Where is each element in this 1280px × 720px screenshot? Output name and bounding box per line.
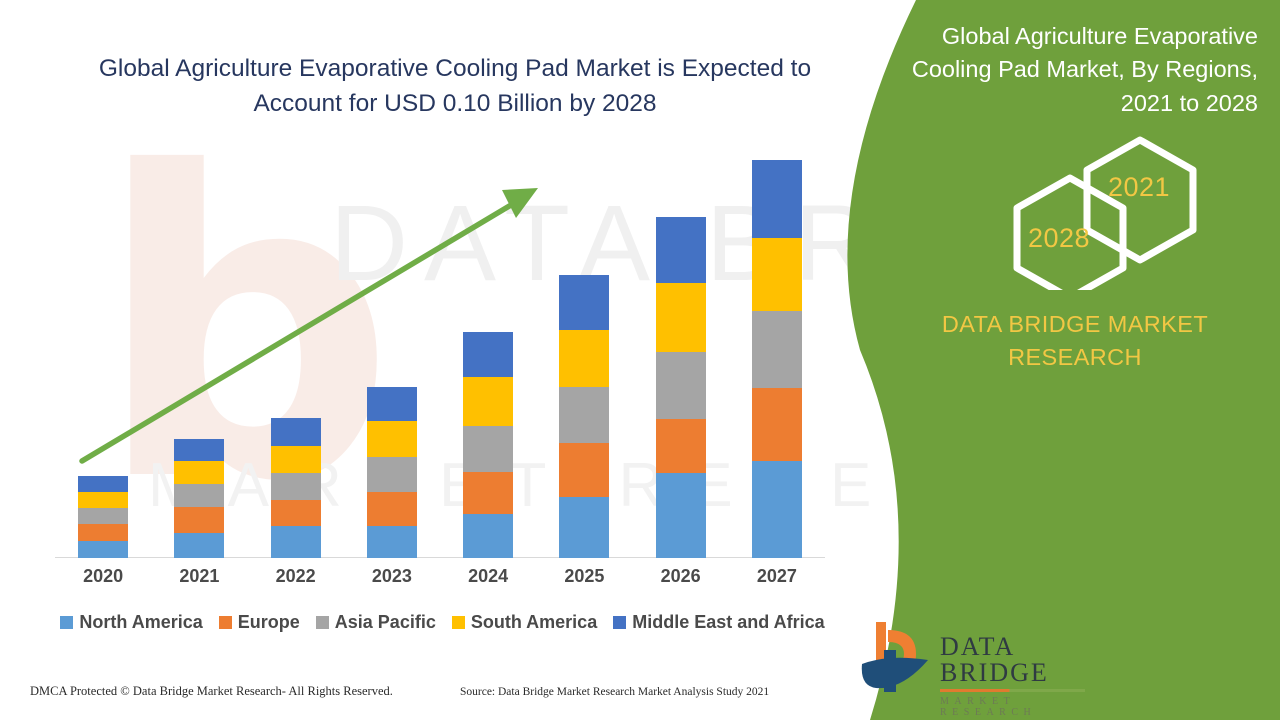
bar-segment: [463, 377, 513, 426]
bar-column: [248, 160, 344, 558]
bar-segment: [174, 484, 224, 507]
legend-label: Asia Pacific: [335, 612, 436, 633]
x-axis-tick-label: 2022: [248, 566, 344, 587]
legend-label: South America: [471, 612, 597, 633]
bar-column: [55, 160, 151, 558]
x-axis-tick-label: 2025: [536, 566, 632, 587]
legend-swatch: [60, 616, 73, 629]
footer-copyright: DMCA Protected © Data Bridge Market Rese…: [30, 684, 393, 699]
legend-label: North America: [79, 612, 202, 633]
bar-segment: [752, 238, 802, 311]
bar-segment: [367, 526, 417, 558]
logo-divider: [940, 689, 1085, 692]
bar-stack: [271, 418, 321, 558]
logo-wordmark: DATA BRIDGE MARKET RESEARCH: [940, 634, 1108, 718]
bar-segment: [463, 332, 513, 377]
logo-subtitle: MARKET RESEARCH: [940, 696, 1108, 718]
bar-stack: [752, 160, 802, 558]
x-axis-tick-label: 2020: [55, 566, 151, 587]
bar-segment: [559, 330, 609, 387]
panel-title: Global Agriculture Evaporative Cooling P…: [898, 20, 1258, 120]
bar-segment: [78, 508, 128, 524]
brand-panel: Global Agriculture Evaporative Cooling P…: [840, 0, 1280, 720]
bar-segment: [367, 457, 417, 491]
stacked-bar-chart: [55, 160, 825, 558]
legend-swatch: [452, 616, 465, 629]
bar-segment: [367, 421, 417, 458]
legend-swatch: [219, 616, 232, 629]
x-axis-tick-label: 2027: [729, 566, 825, 587]
x-axis-labels: 20202021202220232024202520262027: [55, 566, 825, 587]
legend-label: Europe: [238, 612, 300, 633]
logo-title: DATA BRIDGE: [940, 634, 1108, 686]
bar-segment: [656, 217, 706, 282]
x-axis-tick-label: 2023: [344, 566, 440, 587]
bar-segment: [174, 507, 224, 534]
bar-stack: [367, 387, 417, 558]
bar-segment: [78, 541, 128, 558]
x-axis-tick-label: 2024: [440, 566, 536, 587]
bar-segment: [752, 160, 802, 238]
bar-segment: [559, 497, 609, 558]
hexagon-label-2021: 2021: [1108, 172, 1170, 203]
bar-segment: [559, 443, 609, 497]
bar-segment: [271, 473, 321, 500]
bar-segment: [463, 426, 513, 472]
bar-column: [729, 160, 825, 558]
hexagon-label-2028: 2028: [1028, 223, 1090, 254]
bar-segment: [78, 476, 128, 492]
bar-segment: [656, 419, 706, 474]
legend-item: North America: [60, 612, 202, 633]
bar-column: [633, 160, 729, 558]
bar-stack: [463, 332, 513, 558]
data-bridge-logo: DATA BRIDGE MARKET RESEARCH: [858, 620, 1108, 698]
bar-segment: [559, 275, 609, 331]
bar-segment: [463, 514, 513, 558]
bar-column: [344, 160, 440, 558]
bar-segment: [174, 461, 224, 484]
bar-stack: [559, 275, 609, 558]
bar-segment: [271, 446, 321, 473]
page-title: Global Agriculture Evaporative Cooling P…: [60, 52, 850, 122]
bar-segment: [174, 439, 224, 461]
bar-segment: [656, 283, 706, 353]
bar-column: [151, 160, 247, 558]
bar-segment: [752, 311, 802, 388]
legend-item: Asia Pacific: [316, 612, 436, 633]
bar-stack: [78, 476, 128, 558]
legend-swatch: [316, 616, 329, 629]
bar-segment: [463, 472, 513, 514]
bar-segment: [752, 388, 802, 460]
bar-segment: [271, 418, 321, 446]
bar-segment: [656, 473, 706, 558]
bar-segment: [271, 500, 321, 527]
hexagon-badges: 2021 2028: [840, 130, 1280, 290]
chart-legend: North AmericaEuropeAsia PacificSouth Ame…: [55, 612, 830, 633]
brand-name: DATA BRIDGE MARKET RESEARCH: [875, 308, 1275, 375]
legend-swatch: [613, 616, 626, 629]
x-axis-tick-label: 2021: [151, 566, 247, 587]
bar-column: [440, 160, 536, 558]
legend-item: South America: [452, 612, 597, 633]
bar-segment: [367, 387, 417, 420]
bar-segment: [78, 524, 128, 541]
logo-mark-icon: [858, 620, 938, 698]
bar-segment: [752, 461, 802, 559]
x-axis-tick-label: 2026: [633, 566, 729, 587]
bar-stack: [656, 217, 706, 558]
footer: DMCA Protected © Data Bridge Market Rese…: [0, 676, 860, 720]
bar-segment: [78, 492, 128, 508]
bar-segment: [367, 492, 417, 526]
bar-segment: [559, 387, 609, 443]
legend-item: Europe: [219, 612, 300, 633]
bar-segment: [174, 533, 224, 558]
footer-source: Source: Data Bridge Market Research Mark…: [460, 686, 769, 698]
bar-stack: [174, 439, 224, 558]
legend-item: Middle East and Africa: [613, 612, 824, 633]
legend-label: Middle East and Africa: [632, 612, 824, 633]
bar-segment: [271, 526, 321, 558]
bar-column: [536, 160, 632, 558]
bar-segment: [656, 352, 706, 418]
infographic-root: b DATA BRIDGE MARKET RESEARCH Global Agr…: [0, 0, 1280, 720]
hexagon-shapes-icon: [840, 130, 1280, 290]
